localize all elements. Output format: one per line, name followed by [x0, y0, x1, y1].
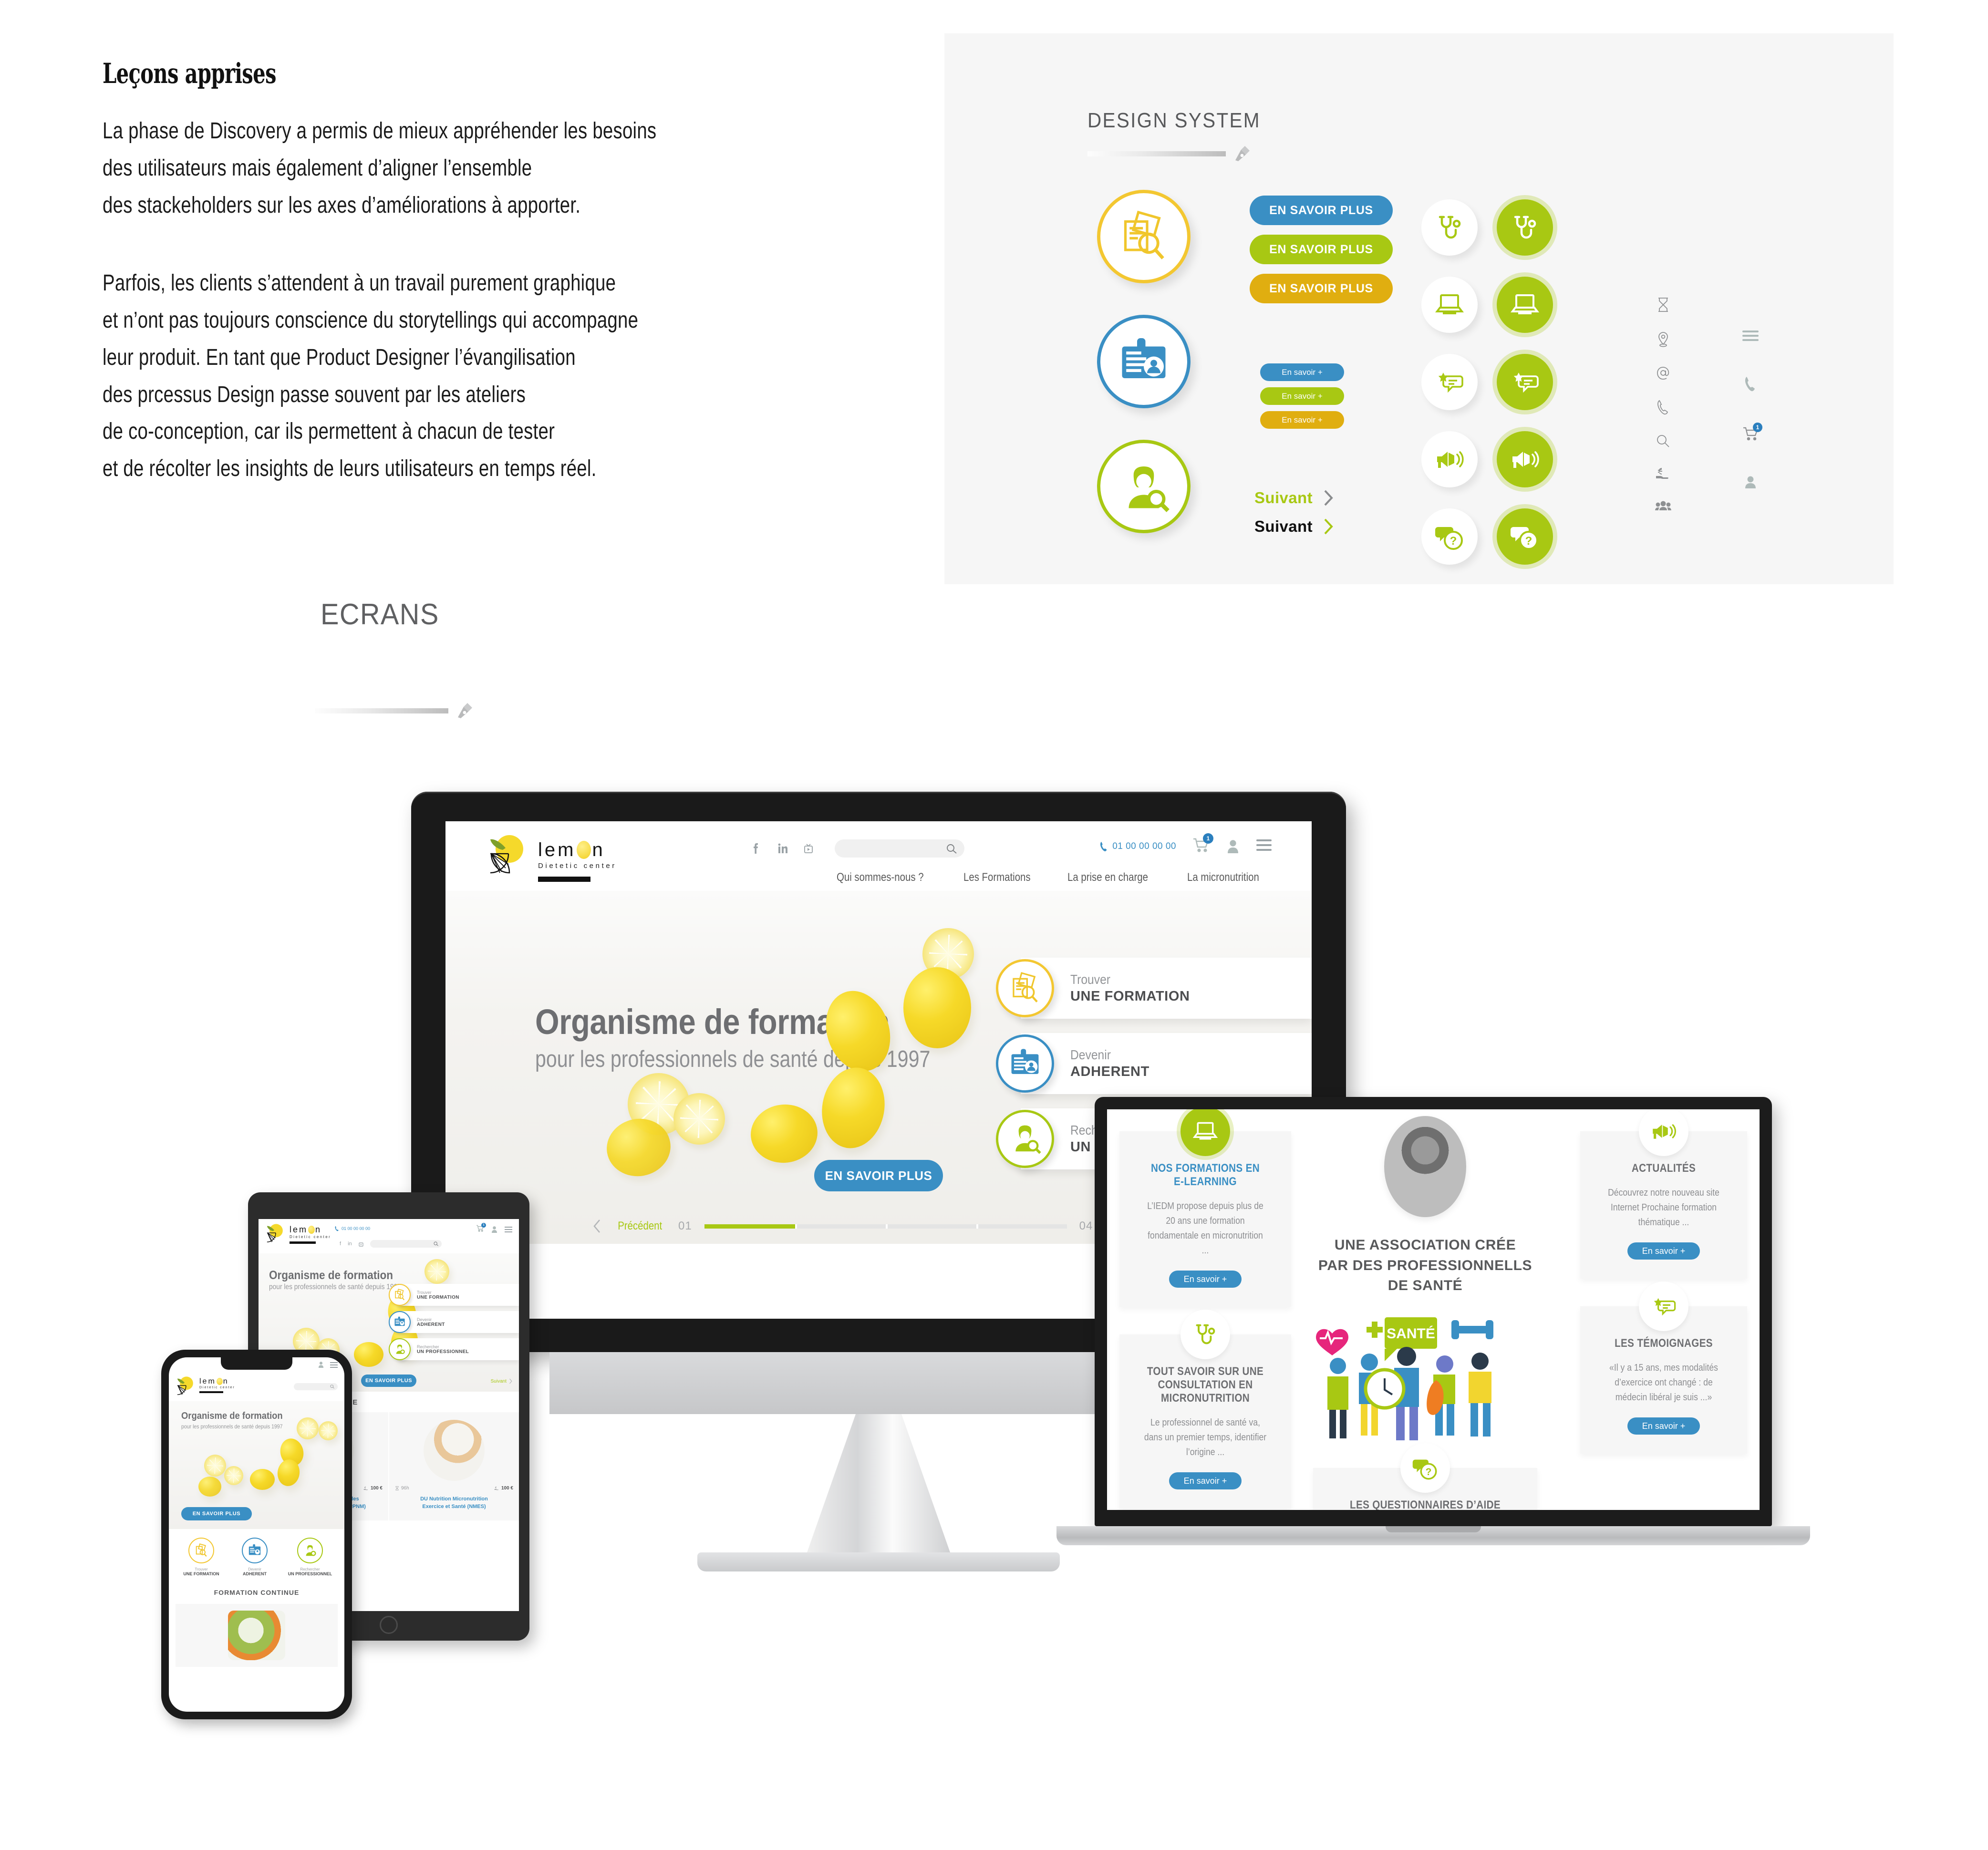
nav-item-la-micronutrition[interactable]: La micronutrition — [1187, 871, 1259, 884]
logo-o-dot — [308, 1226, 315, 1234]
paragraph-line: Parfois, les clients s’attendent à un tr… — [103, 265, 751, 302]
icon-chip-chat-star-light[interactable] — [1421, 354, 1478, 410]
card-heading: LES TÉMOIGNAGES — [1606, 1337, 1722, 1350]
person-search-icon — [303, 1543, 317, 1558]
cta-icon-circle — [242, 1538, 268, 1563]
laptop-base-notch — [1386, 1526, 1481, 1532]
cta-card-trouver[interactable]: Trouver UNE FORMATION — [178, 1538, 224, 1576]
chevron-right-icon — [1323, 518, 1334, 535]
user-icon[interactable] — [318, 1361, 324, 1368]
card-formations-elearning[interactable]: NOS FORMATIONS EN E-LEARNING L’IEDM prop… — [1119, 1131, 1291, 1307]
user-icon — [1743, 475, 1758, 489]
tablet-header-actions: 1 — [476, 1225, 512, 1234]
logo-wordmark: lemn — [538, 839, 617, 861]
gradient-rule — [315, 708, 448, 713]
cta-card-devenir[interactable]: Devenir ADHERENT — [1021, 1033, 1312, 1094]
cta-card-devenir[interactable]: Devenir ADHERENT — [232, 1538, 278, 1576]
phone-number[interactable]: 01 00 00 00 00 — [1100, 841, 1176, 852]
cta-label-top: Devenir — [232, 1567, 278, 1571]
card-body: «Il y a 15 ans, mes modalités d’exercice… — [1605, 1361, 1723, 1405]
ecrans-title: ECRANS — [321, 598, 439, 631]
card-temoignages[interactable]: LES TÉMOIGNAGES «Il y a 15 ans, mes moda… — [1580, 1306, 1747, 1454]
facebook-icon[interactable]: f — [340, 1241, 341, 1247]
cta-label-bottom: ADHERENT — [1070, 1064, 1149, 1080]
course-title-line: Exercice et Santé (NMES) — [395, 1503, 513, 1511]
badge-documents-search[interactable] — [1097, 190, 1191, 283]
association-line: UNE ASSOCIATION CRÉE — [1313, 1235, 1537, 1256]
phone-number-text: 01 00 00 00 00 — [342, 1226, 370, 1231]
linkedin-icon[interactable]: in — [348, 1241, 352, 1247]
card-questionnaires-diagnostic[interactable]: ? LES QUESTIONNAIRES D’AIDE AU DIAGNOSTI… — [1313, 1468, 1537, 1510]
cta-label-bottom: ADHERENT — [232, 1571, 278, 1576]
paragraph-line: des stackeholders sur les axes d’amélior… — [103, 187, 751, 224]
carousel-prev-label[interactable]: Précédent — [618, 1220, 662, 1233]
chat-star-icon — [1650, 1293, 1677, 1320]
course-card[interactable]: 96h 100 € DU Nutrition Micronutrition Ex… — [389, 1412, 519, 1520]
documents-search-icon — [1117, 210, 1170, 263]
cart-with-badge[interactable]: 1 — [1742, 426, 1759, 441]
page-title: Leçons apprises — [103, 57, 686, 90]
logo-subtitle: Dietetic center — [538, 862, 617, 870]
design-system-title: DESIGN SYSTEM — [1087, 109, 1261, 133]
laptop-icon — [1510, 289, 1540, 320]
hourglass-icon — [1656, 297, 1670, 313]
laptop-card-icon: ? — [1400, 1443, 1450, 1493]
phone-icon — [1657, 399, 1669, 415]
badge-id-card[interactable] — [1097, 315, 1191, 408]
id-card-user-icon — [393, 1316, 406, 1328]
logo-o-dot — [217, 1378, 223, 1385]
stethoscope-icon — [1192, 1321, 1219, 1348]
people-illustration: SANTÉ — [1313, 1309, 1537, 1452]
header-social-search — [751, 839, 964, 858]
laptop-page: NOS FORMATIONS EN E-LEARNING L’IEDM prop… — [1107, 1109, 1760, 1510]
tablet-cta-stack: Trouver UNE FORMATION Devenir ADHERENT — [399, 1284, 519, 1360]
chat-star-icon — [1510, 367, 1540, 397]
lemon-logo-icon — [265, 1223, 286, 1245]
phone-notch — [221, 1357, 292, 1370]
ecrans-divider — [315, 701, 474, 720]
lemon-decor — [224, 1466, 243, 1485]
course-card[interactable] — [176, 1604, 338, 1667]
user-icon[interactable] — [491, 1226, 498, 1233]
card-heading: LES QUESTIONNAIRES D’AIDE AU DIAGNOSTIC — [1343, 1499, 1508, 1510]
logo-underline — [538, 877, 590, 882]
tablet-home-button[interactable] — [380, 1616, 398, 1634]
cta-icon-circle — [996, 1110, 1054, 1168]
lemon-decor — [319, 1421, 338, 1440]
icon-chip-chat-question-solid[interactable]: ? — [1497, 508, 1553, 565]
stethoscope-icon — [1510, 212, 1540, 243]
main-nav: Qui sommes-nous ? Les Formations La pris… — [837, 871, 1272, 884]
card-body: L’IEDM propose depuis plus de 20 ans une… — [1144, 1199, 1267, 1258]
user-icon[interactable] — [1226, 839, 1240, 854]
cta-card-rechercher[interactable]: Rechercher UN PROFESSIONNEL — [285, 1538, 335, 1576]
cta-label-top: Devenir — [417, 1317, 445, 1322]
tablet-social-search: f in — [340, 1240, 442, 1248]
cta-card-rechercher[interactable]: Rechercher UN PROFESSIONNEL — [399, 1338, 519, 1360]
chevron-right-icon — [509, 1378, 512, 1384]
carousel-progress-track[interactable] — [704, 1224, 1067, 1229]
id-card-user-icon — [1008, 1047, 1042, 1080]
site-logo[interactable]: lemn Dietetic center — [487, 833, 617, 882]
phone-course-list — [169, 1604, 344, 1667]
card-heading: NOS FORMATIONS EN E-LEARNING — [1145, 1162, 1265, 1189]
svg-text:?: ? — [1426, 1467, 1432, 1478]
cta-label-top: Devenir — [1070, 1047, 1140, 1063]
course-title-line: DU Nutrition Micronutrition — [395, 1496, 513, 1503]
button-en-savoir-plus-gold[interactable]: EN SAVOIR PLUS — [1250, 274, 1393, 303]
phone-hero: Organisme de formation pour les professi… — [169, 1401, 344, 1529]
illustration-label-text: SANTÉ — [1387, 1325, 1435, 1342]
hero-title-text: Organisme de formation — [269, 1269, 393, 1282]
svg-text:?: ? — [1525, 535, 1532, 548]
laptop-screen: NOS FORMATIONS EN E-LEARNING L’IEDM prop… — [1107, 1109, 1760, 1510]
paragraph-line: leur produit. En tant que Product Design… — [103, 339, 751, 376]
icon-chip-megaphone-solid[interactable] — [1497, 431, 1553, 487]
laptop-card-icon — [1180, 1310, 1230, 1359]
utility-icons-column-1 — [1655, 297, 1671, 512]
id-card-user-icon — [248, 1543, 262, 1558]
facebook-icon[interactable] — [751, 841, 763, 856]
id-card-user-icon — [1117, 335, 1170, 388]
link-label: Suivant — [1254, 489, 1313, 507]
paragraph-line: et de récolter les insights de leurs uti… — [103, 450, 751, 487]
phone-number-text: 01 00 00 00 00 — [1112, 841, 1176, 852]
linkedin-icon[interactable] — [777, 841, 789, 856]
laptop-card-icon — [1180, 1109, 1230, 1156]
hero-cta-button[interactable]: EN SAVOIR PLUS — [181, 1507, 252, 1520]
person-search-icon — [393, 1343, 406, 1355]
documents-search-icon — [393, 1289, 406, 1301]
cta-label-top: Rechercher — [417, 1344, 469, 1349]
button-en-savoir-plus-green[interactable]: EN SAVOIR PLUS — [1250, 235, 1393, 264]
logo-subtitle: Dietetic center — [290, 1235, 331, 1239]
association-heading: UNE ASSOCIATION CRÉE PAR DES PROFESSIONN… — [1313, 1235, 1537, 1296]
hero-subtitle-text: pour les professionnels de santé depuis … — [269, 1283, 401, 1292]
phone-icon — [335, 1226, 339, 1231]
euro-hand-icon — [1655, 467, 1671, 481]
youtube-icon[interactable] — [802, 841, 815, 856]
pen-nib-icon — [455, 701, 474, 720]
card-heading: TOUT SAVOIR SUR UNE CONSULTATION EN MICR… — [1145, 1365, 1265, 1405]
link-suivant-green[interactable]: Suivant — [1254, 489, 1334, 507]
hero-subtitle-text: pour les professionnels de santé depuis … — [181, 1423, 283, 1430]
tablet-site-header: lemn Dietetic center 01 00 00 00 00 1 — [259, 1219, 519, 1253]
logo-o-dot — [577, 841, 591, 859]
logo-wordmark: lem — [199, 1377, 216, 1385]
paragraph-line: des prcessus Design passe souvent par le… — [103, 376, 751, 413]
paragraph-line: de co-conception, car ils permettent à c… — [103, 413, 751, 450]
card-button[interactable]: En savoir + — [1169, 1271, 1242, 1288]
monitor-stand — [807, 1414, 950, 1552]
lemon-decor — [903, 967, 971, 1048]
lemon-logo-icon — [487, 833, 530, 878]
hamburger-menu-icon — [1742, 330, 1759, 341]
laptop-right-column: ACTUALITÉS Découvrez notre nouveau site … — [1580, 1131, 1747, 1481]
icon-chip-chat-question-light[interactable]: ? — [1421, 508, 1478, 565]
nav-item-les-formations[interactable]: Les Formations — [963, 871, 1031, 884]
icon-chip-stethoscope-light[interactable] — [1421, 199, 1478, 256]
chevron-right-icon — [1323, 489, 1334, 506]
phone-cta-row: Trouver UNE FORMATION Devenir ADHERENT — [169, 1529, 344, 1578]
megaphone-icon — [1434, 444, 1465, 475]
card-button[interactable]: En savoir + — [1627, 1417, 1700, 1435]
lessons-section: Leçons apprises La phase de Discovery a … — [103, 57, 913, 487]
cart-button[interactable]: 1 — [476, 1225, 484, 1234]
paragraph-line: et n’ont pas toujours conscience du stor… — [103, 302, 751, 339]
lemon-decor — [816, 1063, 891, 1153]
icon-chip-chat-star-solid[interactable] — [1497, 354, 1553, 410]
laptop-bezel: NOS FORMATIONS EN E-LEARNING L’IEDM prop… — [1095, 1097, 1772, 1526]
cta-label-bottom: ADHERENT — [417, 1322, 445, 1327]
cta-label-bottom: UNE FORMATION — [1070, 989, 1190, 1004]
icon-chip-laptop-light[interactable] — [1421, 277, 1478, 333]
search-input[interactable] — [294, 1383, 338, 1390]
cta-icon-circle — [389, 1284, 411, 1306]
magnifier-icon — [1656, 434, 1670, 448]
carousel-current: 01 — [678, 1220, 692, 1233]
svg-text:?: ? — [1450, 535, 1457, 548]
icon-chip-megaphone-light[interactable] — [1421, 431, 1478, 487]
association-line: PAR DES PROFESSIONNELLS — [1313, 1256, 1537, 1276]
cta-card-trouver[interactable]: Trouver UNE FORMATION — [399, 1284, 519, 1306]
hero-cta-button[interactable]: EN SAVOIR PLUS — [361, 1375, 416, 1387]
course-price: 100 € — [371, 1486, 383, 1491]
cta-icon-circle — [996, 959, 1054, 1017]
person-search-icon — [1008, 1122, 1042, 1156]
card-consultation-micronutrition[interactable]: TOUT SAVOIR SUR UNE CONSULTATION EN MICR… — [1119, 1334, 1291, 1509]
laptop-icon — [1434, 289, 1465, 320]
icon-chip-stethoscope-solid[interactable] — [1497, 199, 1553, 256]
logo-underline — [199, 1391, 223, 1393]
cta-icon-circle — [297, 1538, 323, 1563]
avatar — [1384, 1116, 1466, 1217]
button-en-savoir-plus-blue[interactable]: EN SAVOIR PLUS — [1250, 196, 1393, 225]
hero-title-text: Organisme de formation — [181, 1411, 283, 1422]
cart-badge-count: 1 — [1203, 833, 1213, 844]
cart-badge-count: 1 — [1753, 423, 1762, 432]
laptop-card-icon — [1639, 1282, 1688, 1331]
hamburger-menu-icon[interactable] — [505, 1227, 512, 1232]
button-en-savoir-small-gold[interactable]: En savoir + — [1260, 411, 1344, 429]
paragraph-line: des utilisateurs mais également d’aligne… — [103, 150, 751, 187]
button-en-savoir-small-green[interactable]: En savoir + — [1260, 387, 1344, 405]
carousel-next-label: Suivant — [491, 1379, 507, 1384]
button-en-savoir-small-blue[interactable]: En savoir + — [1260, 363, 1344, 381]
lemon-decor — [425, 1259, 449, 1284]
phone-screen: lemn Dietetic center Organisme de format… — [169, 1357, 344, 1712]
search-icon — [434, 1241, 439, 1246]
cta-label-bottom: UNE FORMATION — [417, 1295, 459, 1300]
cta-icon-circle — [188, 1538, 214, 1563]
search-icon — [946, 844, 958, 854]
cta-label-bottom: UN PROFESSIONNEL — [285, 1571, 335, 1576]
phone-icon — [1744, 376, 1757, 392]
cta-label-top: Trouver — [417, 1290, 459, 1295]
card-heading: ACTUALITÉS — [1606, 1162, 1722, 1175]
cart-badge-count: 1 — [481, 1223, 486, 1228]
association-line: DE SANTÉ — [1313, 1276, 1537, 1296]
nav-item-la-prise-en-charge[interactable]: La prise en charge — [1067, 871, 1148, 884]
chat-question-icon: ? — [1434, 521, 1465, 552]
logo-subtitle: Dietetic center — [199, 1386, 235, 1389]
cta-label-bottom: UN PROFESSIONNEL — [417, 1349, 469, 1354]
cta-icon-circle — [389, 1338, 411, 1360]
lemon-decor — [198, 1477, 221, 1497]
device-reflection: NOS FORMATIONS EN E-LEARNING TOUT SAVOIR… — [0, 1706, 1988, 1850]
group-people-icon — [1655, 500, 1671, 512]
header-actions: 01 00 00 00 00 1 — [1100, 837, 1272, 855]
lemon-decor — [204, 1455, 226, 1477]
design-system-divider — [1087, 144, 1252, 163]
logo-underline — [290, 1241, 316, 1244]
euro-hand-icon — [494, 1486, 499, 1491]
search-icon — [330, 1385, 335, 1389]
search-input[interactable] — [835, 839, 964, 858]
cta-label-top: Trouver — [178, 1567, 224, 1571]
chat-question-icon: ? — [1412, 1455, 1439, 1481]
search-input[interactable] — [370, 1240, 442, 1248]
link-suivant-dark[interactable]: Suivant — [1254, 517, 1334, 536]
map-pin-icon — [1657, 331, 1670, 348]
hourglass-icon — [395, 1486, 399, 1491]
cta-card-trouver[interactable]: Trouver UNE FORMATION — [1021, 958, 1312, 1019]
gradient-rule — [1087, 151, 1226, 156]
lessons-paragraph-2: Parfois, les clients s’attendent à un tr… — [103, 265, 751, 487]
icon-chip-laptop-solid[interactable] — [1497, 277, 1553, 333]
device-showcase: lemn Dietetic center — [0, 792, 1988, 1850]
carousel-progress-fill — [704, 1224, 795, 1229]
cta-card-devenir[interactable]: Devenir ADHERENT — [399, 1311, 519, 1333]
cta-label-top: Trouver — [1070, 972, 1175, 987]
lemon-decor — [673, 1093, 725, 1145]
design-system-panel: DESIGN SYSTEM — [944, 33, 1894, 584]
card-button[interactable]: En savoir + — [1627, 1242, 1700, 1260]
utility-icons-column-2: 1 — [1742, 330, 1759, 489]
monitor-foot — [697, 1552, 1060, 1571]
laptop-mockup: NOS FORMATIONS EN E-LEARNING L’IEDM prop… — [1056, 1097, 1810, 1545]
site-header: lemn Dietetic center — [445, 821, 1312, 891]
card-body: Le professionnel de santé va, dans un pr… — [1144, 1416, 1267, 1460]
stethoscope-icon — [1434, 212, 1465, 243]
documents-search-icon — [194, 1543, 208, 1558]
course-duration: 96h — [401, 1486, 409, 1491]
chat-star-icon — [1434, 367, 1465, 397]
course-price: 100 € — [501, 1486, 513, 1491]
logo-wordmark: lem — [290, 1225, 308, 1234]
chat-question-icon: ? — [1510, 521, 1540, 552]
section-title: FORMATION CONTINUE — [169, 1589, 344, 1596]
youtube-icon[interactable] — [359, 1241, 363, 1247]
card-actualites[interactable]: ACTUALITÉS Découvrez notre nouveau site … — [1580, 1131, 1747, 1279]
cart-button[interactable]: 1 — [1192, 837, 1210, 855]
cta-icon-circle — [389, 1311, 411, 1333]
carousel-next-label-wrap[interactable]: Suivant — [491, 1378, 512, 1384]
documents-search-icon — [1008, 972, 1042, 1005]
lemon-decor — [354, 1342, 383, 1367]
hamburger-menu-icon[interactable] — [330, 1362, 338, 1368]
nav-item-qui-sommes-nous[interactable]: Qui sommes-nous ? — [837, 871, 924, 884]
laptop-card-icon — [1639, 1109, 1688, 1156]
at-sign-icon — [1656, 366, 1670, 381]
person-search-icon — [1117, 460, 1170, 513]
lemon-decor — [748, 1101, 820, 1166]
laptop-icon — [1192, 1118, 1219, 1145]
lemon-logo-icon — [176, 1375, 197, 1397]
cta-label-top: Rechercher — [285, 1567, 335, 1571]
lessons-paragraph-1: La phase de Discovery a permis de mieux … — [103, 113, 751, 224]
laptop-left-column: NOS FORMATIONS EN E-LEARNING L’IEDM prop… — [1119, 1131, 1291, 1510]
lemon-decor — [297, 1417, 319, 1439]
laptop-base — [1056, 1526, 1810, 1545]
paragraph-line: La phase de Discovery a permis de mieux … — [103, 113, 751, 150]
euro-hand-icon — [363, 1486, 369, 1491]
hero-cta-button[interactable]: EN SAVOIR PLUS — [814, 1160, 943, 1191]
hamburger-menu-icon[interactable] — [1256, 839, 1272, 854]
icon-library-grid: ? ? — [1421, 199, 1557, 565]
phone-icon — [1100, 841, 1108, 852]
phone-bezel: lemn Dietetic center Organisme de format… — [161, 1350, 352, 1719]
link-label: Suivant — [1254, 517, 1313, 536]
chevron-left-icon[interactable] — [593, 1219, 601, 1233]
megaphone-icon — [1510, 444, 1540, 475]
megaphone-icon — [1650, 1118, 1677, 1145]
phone-number[interactable]: 01 00 00 00 00 — [335, 1226, 370, 1231]
card-button[interactable]: En savoir + — [1169, 1472, 1242, 1489]
badge-person-search[interactable] — [1097, 440, 1191, 533]
lemon-decor — [250, 1469, 275, 1490]
cta-icon-circle — [996, 1034, 1054, 1093]
phone-mockup: lemn Dietetic center Organisme de format… — [161, 1350, 352, 1719]
cta-label-bottom: UNE FORMATION — [178, 1571, 224, 1576]
card-body: Découvrez notre nouveau site Internet Pr… — [1605, 1186, 1723, 1230]
pen-nib-icon — [1232, 144, 1252, 163]
laptop-middle-column: UNE ASSOCIATION CRÉE PAR DES PROFESSIONN… — [1313, 1116, 1537, 1510]
